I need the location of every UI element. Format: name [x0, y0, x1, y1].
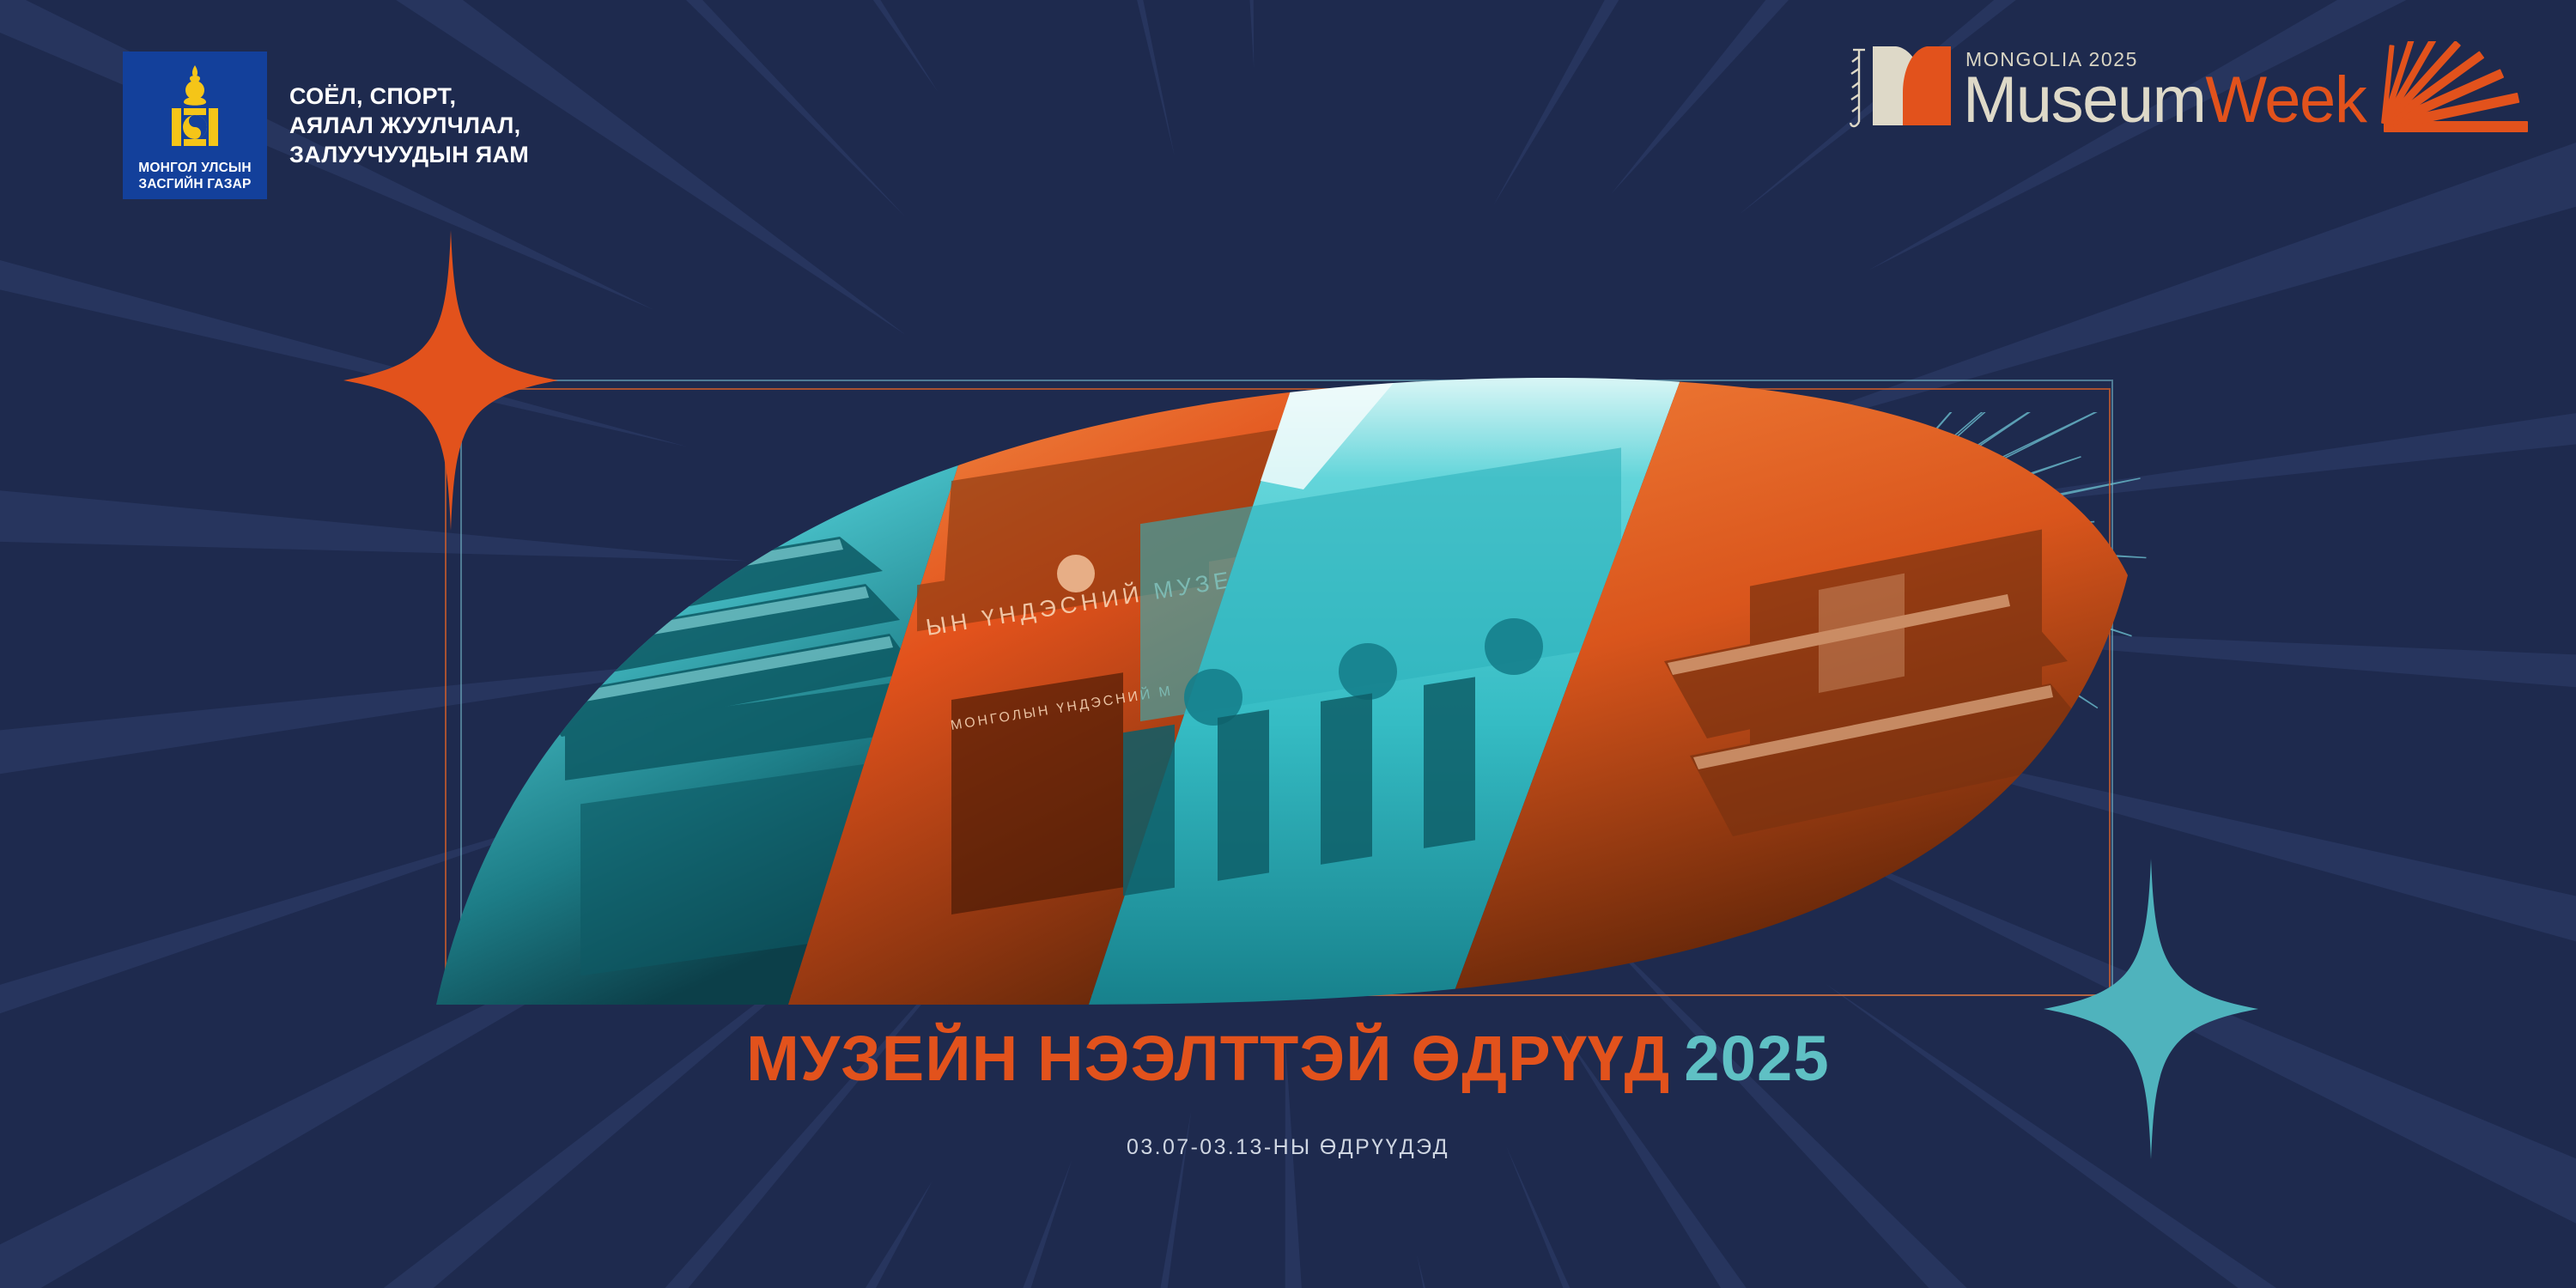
- open-book-mark: [1844, 39, 1954, 132]
- emblem-caption-line2: ЗАСГИЙН ГАЗАР: [138, 177, 251, 191]
- headline-subtitle: 03.07-03.13-НЫ ӨДРҮҮДЭД: [0, 1135, 2576, 1160]
- page-title: МУЗЕЙН НЭЭЛТТЭЙ ӨДРҮҮД2025: [0, 1027, 2576, 1091]
- mongolia-government-emblem: МОНГОЛ УЛСЫН ЗАСГИЙН ГАЗАР: [123, 52, 267, 199]
- four-point-sparkle-icon-orange: [343, 230, 558, 531]
- emblem-caption: МОНГОЛ УЛСЫН ЗАСГИЙН ГАЗАР: [138, 161, 252, 193]
- museumweek-word-week: Week: [2205, 70, 2366, 131]
- ministry-name: СОЁЛ, СПОРТ, АЯЛАЛ ЖУУЛЧЛАЛ, ЗАЛУУЧУУДЫН…: [289, 82, 529, 169]
- emblem-caption-line1: МОНГОЛ УЛСЫН: [138, 161, 252, 175]
- museumweek-word-museum: Museum: [1963, 70, 2205, 131]
- museum-photo-collage: ЫН ҮНДЭСНИЙ МУЗЕЙ МОНГОЛЫН ҮНДЭСНИЙ М: [436, 378, 2128, 1005]
- poster-canvas: ЫН ҮНДЭСНИЙ МУЗЕЙ МОНГОЛЫН ҮНДЭСНИЙ М: [0, 0, 2576, 1288]
- headline-title: МУЗЕЙН НЭЭЛТТЭЙ ӨДРҮҮД: [746, 1023, 1670, 1094]
- mongolian-vertical-script: [1850, 50, 1865, 126]
- headline-year: 2025: [1684, 1023, 1829, 1094]
- museumweek-logo: MONGOLIA 2025 MuseumWeek: [1844, 39, 2366, 132]
- four-point-sparkle-icon-teal: [2044, 859, 2258, 1159]
- ministry-logo-block: МОНГОЛ УЛСЫН ЗАСГИЙН ГАЗАР СОЁЛ, СПОРТ, …: [123, 52, 529, 199]
- soyombo-icon: [158, 64, 232, 158]
- sunburst-fan-icon: [2373, 41, 2528, 136]
